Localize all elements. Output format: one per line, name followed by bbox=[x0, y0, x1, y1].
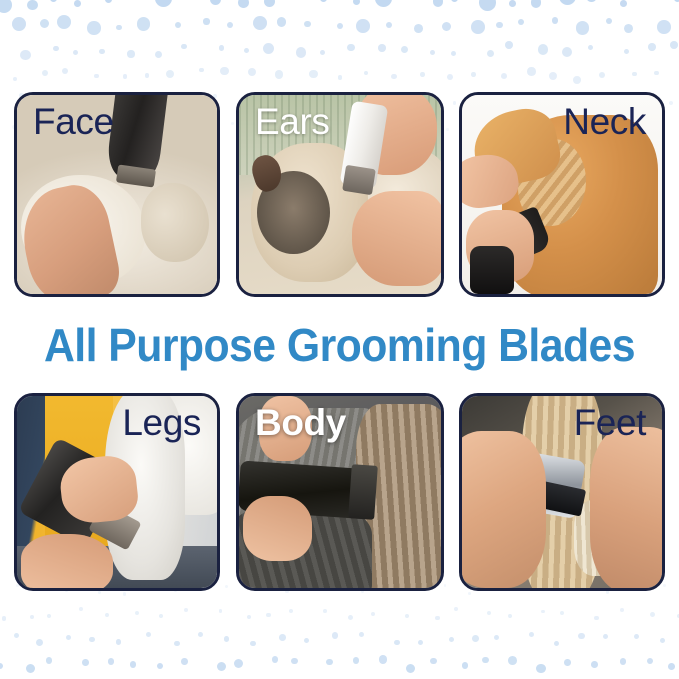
decorative-dot bbox=[620, 0, 627, 7]
decorative-dot bbox=[20, 50, 30, 60]
decorative-dot bbox=[418, 640, 423, 645]
decorative-dot bbox=[279, 634, 286, 641]
decorative-dot bbox=[451, 51, 456, 56]
decorative-dot bbox=[99, 49, 104, 54]
decorative-dot bbox=[462, 662, 469, 669]
decorative-dot bbox=[13, 77, 17, 81]
decorative-dot bbox=[620, 608, 624, 612]
decorative-dot bbox=[220, 67, 229, 76]
decorative-dot bbox=[277, 17, 286, 26]
decorative-dot bbox=[175, 22, 181, 28]
decorative-dot bbox=[509, 0, 516, 7]
decorative-dot bbox=[157, 663, 164, 670]
feature-card-legs[interactable]: Legs bbox=[14, 393, 220, 591]
decorative-dot bbox=[225, 585, 228, 588]
decorative-dot bbox=[386, 22, 392, 28]
card-label-face: Face bbox=[33, 103, 114, 142]
card-label-ears: Ears bbox=[255, 103, 329, 142]
decorative-dot bbox=[234, 659, 243, 668]
card-label-legs: Legs bbox=[122, 404, 201, 443]
decorative-dot bbox=[536, 664, 545, 673]
card-label-feet: Feet bbox=[574, 404, 646, 443]
decorative-dot bbox=[444, 584, 447, 587]
decorative-dot bbox=[654, 71, 659, 76]
decorative-dot bbox=[155, 0, 172, 7]
decorative-dot bbox=[159, 614, 163, 618]
decorative-dot bbox=[304, 638, 309, 643]
decorative-dot bbox=[238, 0, 249, 8]
decorative-dot bbox=[606, 18, 612, 24]
decorative-dot bbox=[588, 45, 593, 50]
decorative-dot bbox=[266, 613, 270, 617]
decorative-dot bbox=[2, 616, 6, 620]
decorative-dot bbox=[356, 19, 370, 33]
decorative-dot bbox=[30, 615, 34, 619]
decorative-dot bbox=[247, 615, 251, 619]
decorative-dot bbox=[468, 592, 471, 595]
decorative-dot bbox=[53, 46, 58, 51]
decorative-dot bbox=[203, 18, 209, 24]
decorative-dot bbox=[669, 101, 673, 105]
decorative-dot bbox=[137, 17, 151, 31]
decorative-dot bbox=[73, 50, 78, 55]
decorative-dot bbox=[529, 632, 534, 637]
decorative-dot bbox=[14, 633, 19, 638]
decorative-dot bbox=[603, 634, 608, 639]
decorative-dot bbox=[435, 616, 439, 620]
decorative-dot bbox=[663, 584, 666, 587]
decorative-dot bbox=[98, 591, 101, 594]
decorative-dot bbox=[624, 49, 629, 54]
decorative-dot bbox=[227, 22, 233, 28]
decorative-dot bbox=[430, 50, 435, 55]
decorative-dot bbox=[594, 616, 598, 620]
decorative-dot bbox=[181, 44, 186, 49]
decorative-dot bbox=[57, 15, 71, 29]
decorative-dot bbox=[46, 657, 52, 663]
decorative-dot bbox=[337, 23, 343, 29]
decorative-dot bbox=[224, 636, 229, 641]
decorative-dot bbox=[263, 43, 274, 54]
decorative-dot bbox=[433, 0, 444, 7]
decorative-dot bbox=[620, 658, 626, 664]
decorative-dot bbox=[538, 44, 549, 55]
decorative-dot bbox=[320, 0, 327, 2]
decorative-dot bbox=[554, 641, 559, 646]
decorative-dot bbox=[199, 68, 204, 73]
decorative-dot bbox=[508, 656, 517, 665]
decorative-dot bbox=[674, 0, 679, 2]
decorative-dot bbox=[359, 632, 364, 637]
decorative-dot bbox=[145, 73, 149, 77]
decorative-dot bbox=[12, 17, 26, 31]
decorative-dot bbox=[326, 659, 332, 665]
decorative-dot bbox=[660, 638, 665, 643]
decorative-dot bbox=[210, 0, 221, 5]
feature-card-face[interactable]: Face bbox=[14, 92, 220, 297]
decorative-dot bbox=[496, 22, 502, 28]
decorative-dot bbox=[123, 592, 126, 595]
decorative-dot bbox=[275, 70, 283, 78]
decorative-dot bbox=[66, 635, 71, 640]
decorative-dot bbox=[291, 658, 297, 664]
decorative-dot bbox=[449, 637, 454, 642]
decorative-dot bbox=[217, 662, 226, 671]
decorative-dot bbox=[135, 611, 139, 615]
decorative-dot bbox=[353, 657, 359, 663]
decorative-dot bbox=[184, 608, 188, 612]
decorative-dot bbox=[394, 640, 399, 645]
decorative-dot bbox=[624, 24, 633, 33]
decorative-dot bbox=[650, 612, 655, 617]
decorative-dot bbox=[166, 70, 174, 78]
decorative-dot bbox=[573, 76, 581, 84]
decorative-dot bbox=[454, 607, 458, 611]
feature-card-ears[interactable]: Ears bbox=[236, 92, 444, 297]
decorative-dot bbox=[471, 20, 485, 34]
decorative-dot bbox=[472, 635, 479, 642]
decorative-dot bbox=[323, 609, 327, 613]
decorative-dot bbox=[487, 611, 491, 615]
decorative-dot bbox=[248, 68, 256, 76]
decorative-dot bbox=[146, 632, 151, 637]
decorative-dot bbox=[338, 75, 342, 79]
decorative-dot bbox=[42, 70, 48, 76]
decorative-dot bbox=[231, 122, 234, 125]
decorative-dot bbox=[634, 634, 639, 639]
decorative-dot bbox=[296, 47, 307, 58]
decorative-dot bbox=[332, 632, 339, 639]
decorative-dot bbox=[116, 25, 122, 31]
decorative-dot bbox=[379, 655, 388, 664]
decorative-dot bbox=[371, 612, 375, 616]
decorative-dot bbox=[108, 658, 114, 664]
decorative-dot bbox=[348, 615, 353, 620]
decorative-dot bbox=[668, 663, 675, 670]
decorative-dot bbox=[174, 641, 179, 646]
decorative-dot bbox=[198, 632, 203, 637]
decorative-dot bbox=[508, 614, 512, 618]
decorative-dot bbox=[0, 663, 3, 670]
decorative-dot bbox=[289, 609, 294, 614]
decorative-dot bbox=[219, 45, 224, 50]
feature-card-neck[interactable]: Neck bbox=[459, 92, 665, 297]
decorative-dot bbox=[591, 661, 598, 668]
decorative-dot bbox=[378, 44, 386, 52]
decorative-dot bbox=[309, 70, 317, 78]
decorative-dot bbox=[130, 661, 137, 668]
decorative-dot bbox=[62, 68, 68, 74]
decorative-dot bbox=[36, 639, 43, 646]
decorative-dot bbox=[116, 639, 121, 644]
decorative-dot bbox=[105, 613, 109, 617]
decorative-dot bbox=[82, 659, 88, 665]
decorative-dot bbox=[27, 0, 38, 10]
card-label-body: Body bbox=[255, 404, 346, 443]
decorative-dot bbox=[244, 48, 249, 53]
decorative-dot bbox=[219, 609, 223, 613]
decorative-dot bbox=[353, 0, 360, 5]
decorative-dot bbox=[94, 74, 98, 78]
decorative-dot bbox=[505, 41, 513, 49]
decorative-dot bbox=[405, 614, 409, 618]
decorative-dot bbox=[364, 71, 369, 76]
decorative-dot bbox=[391, 74, 397, 80]
decorative-dot bbox=[79, 607, 83, 611]
decorative-dot bbox=[518, 19, 524, 25]
feature-card-body[interactable]: Body bbox=[236, 393, 444, 591]
decorative-dot bbox=[552, 17, 558, 23]
decorative-dot bbox=[89, 637, 94, 642]
decorative-dot bbox=[482, 657, 488, 663]
decorative-dot bbox=[479, 0, 496, 11]
decorative-dot bbox=[320, 50, 325, 55]
card-label-neck: Neck bbox=[563, 103, 646, 142]
decorative-dot bbox=[123, 74, 127, 78]
decorative-dot bbox=[670, 41, 678, 49]
decorative-dot bbox=[87, 21, 100, 34]
decorative-dot bbox=[304, 21, 310, 27]
decorative-dot bbox=[632, 72, 636, 76]
decorative-dot bbox=[446, 128, 449, 131]
decorative-dot bbox=[562, 47, 573, 58]
decorative-dot bbox=[447, 74, 453, 80]
decorative-dot bbox=[74, 0, 81, 7]
decorative-dot bbox=[451, 0, 458, 2]
feature-card-feet[interactable]: Feet bbox=[459, 393, 665, 591]
decorative-dot bbox=[50, 0, 57, 2]
decorative-dot bbox=[47, 614, 51, 618]
infographic-canvas: Face Ears Neck All Purpose Grooming B bbox=[0, 0, 679, 679]
decorative-dot bbox=[127, 50, 134, 57]
decorative-dot bbox=[26, 664, 35, 673]
decorative-dot bbox=[501, 73, 507, 79]
decorative-dot bbox=[578, 633, 585, 640]
decorative-dot bbox=[657, 20, 671, 34]
decorative-dot bbox=[442, 22, 451, 31]
decorative-dot bbox=[560, 611, 564, 615]
decorative-dot bbox=[487, 50, 494, 57]
decorative-dot bbox=[527, 67, 535, 75]
decorative-dot bbox=[105, 0, 112, 3]
decorative-dot bbox=[494, 635, 499, 640]
decorative-dot bbox=[420, 72, 424, 76]
decorative-dot bbox=[576, 21, 589, 34]
page-headline: All Purpose Grooming Blades bbox=[24, 314, 655, 376]
decorative-dot bbox=[430, 658, 436, 664]
decorative-dot bbox=[375, 0, 392, 7]
decorative-dot bbox=[471, 72, 475, 76]
decorative-dot bbox=[347, 44, 355, 52]
decorative-dot bbox=[401, 46, 408, 53]
decorative-dot bbox=[586, 0, 597, 2]
decorative-dot bbox=[40, 19, 49, 28]
decorative-dot bbox=[414, 24, 423, 33]
decorative-dot bbox=[155, 51, 162, 58]
decorative-dot bbox=[181, 658, 187, 664]
decorative-dot bbox=[564, 659, 571, 666]
decorative-dot bbox=[559, 0, 576, 5]
decorative-dot bbox=[599, 72, 605, 78]
decorative-dot bbox=[647, 658, 653, 664]
decorative-dot bbox=[406, 664, 415, 673]
decorative-dot bbox=[648, 43, 656, 51]
decorative-dot bbox=[253, 16, 267, 30]
decorative-dot bbox=[541, 610, 545, 614]
decorative-dot bbox=[549, 72, 557, 80]
decorative-dot bbox=[453, 101, 457, 105]
decorative-dot bbox=[264, 0, 275, 7]
decorative-dot bbox=[0, 0, 12, 13]
decorative-dot bbox=[272, 656, 278, 662]
decorative-dot bbox=[531, 0, 542, 8]
decorative-dot bbox=[250, 641, 255, 646]
